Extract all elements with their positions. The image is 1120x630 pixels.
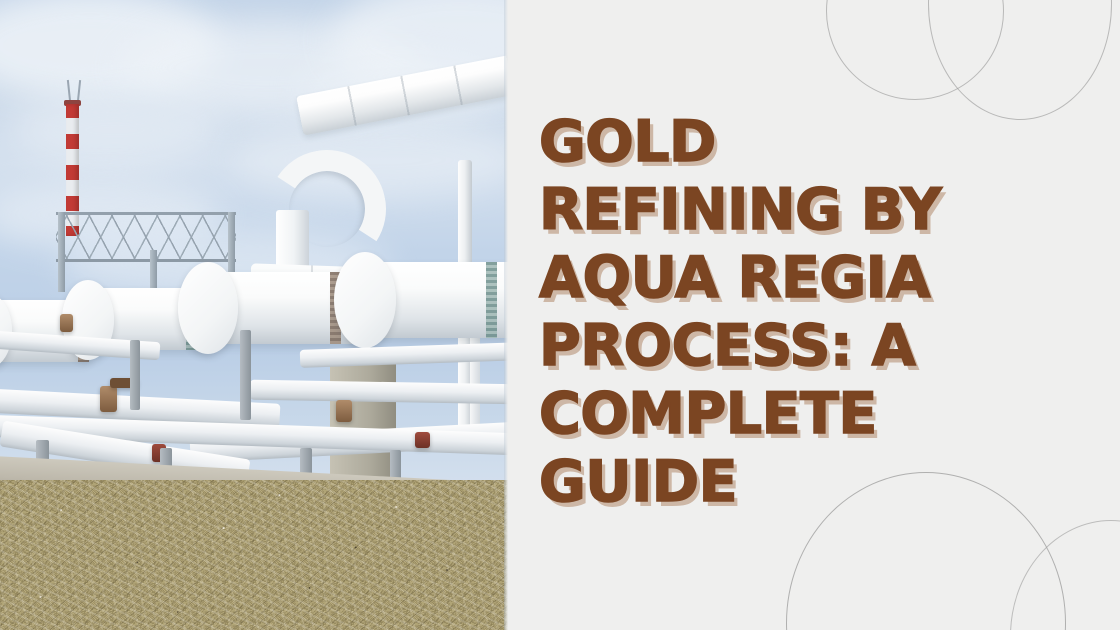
- text-panel: GOLD REFINING BY AQUA REGIA PROCESS: A C…: [508, 0, 1120, 630]
- truss-column: [58, 212, 65, 292]
- header-graphic-canvas: GOLD REFINING BY AQUA REGIA PROCESS: A C…: [0, 0, 1120, 630]
- pipe-flange: [486, 262, 497, 338]
- vessel-end-cap: [334, 252, 396, 348]
- valve: [336, 400, 352, 422]
- pipe-support: [130, 340, 140, 410]
- valve: [60, 314, 73, 332]
- vessel-end-cap: [178, 262, 238, 354]
- valve: [100, 386, 117, 412]
- cloud: [10, 95, 220, 165]
- steel-truss: [56, 212, 236, 262]
- gravel-ground: [0, 480, 508, 630]
- decorative-circle: [928, 0, 1112, 120]
- refinery-photo: [0, 0, 508, 630]
- page-title: GOLD REFINING BY AQUA REGIA PROCESS: A C…: [539, 108, 1009, 516]
- valve: [415, 432, 430, 448]
- pipe-support: [240, 330, 251, 420]
